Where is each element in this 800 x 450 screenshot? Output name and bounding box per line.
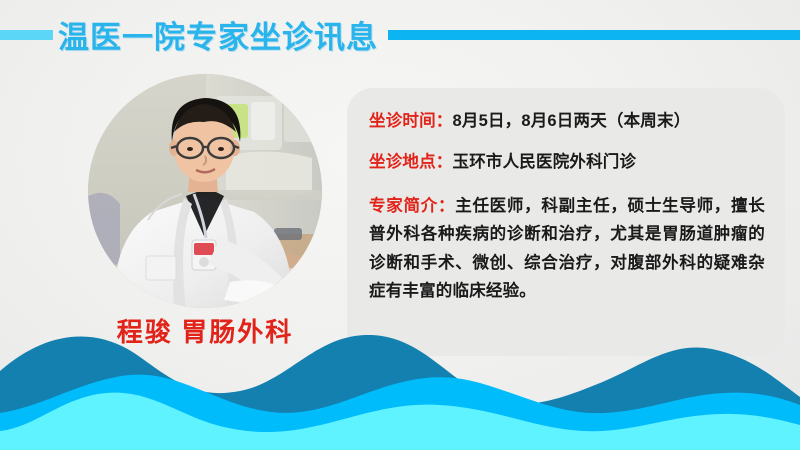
poster-canvas: 温医一院专家坐诊讯息 xyxy=(0,0,800,450)
clinic-place-label: 坐诊地点： xyxy=(369,153,453,171)
doctor-photo xyxy=(88,74,322,308)
doctor-photo-illustration xyxy=(88,74,322,308)
info-panel: 坐诊时间：8月5日，8月6日两天（本周末） 坐诊地点：玉环市人民医院外科门诊 专… xyxy=(347,88,785,356)
expert-bio-line: 专家简介：主任医师，科副主任，硕士生导师，擅长普外科各种疾病的诊断和治疗，尤其是… xyxy=(369,192,765,306)
clinic-time-value: 8月5日，8月6日两天（本周末） xyxy=(453,112,691,130)
wave-illustration xyxy=(0,335,800,450)
header-left-dash xyxy=(0,30,53,40)
header-bar: 温医一院专家坐诊讯息 xyxy=(0,14,800,60)
header-right-rule xyxy=(388,30,800,40)
clinic-place-value: 玉环市人民医院外科门诊 xyxy=(453,153,637,171)
clinic-place-line: 坐诊地点：玉环市人民医院外科门诊 xyxy=(369,151,765,175)
clinic-time-line: 坐诊时间：8月5日，8月6日两天（本周末） xyxy=(369,110,765,134)
clinic-time-label: 坐诊时间： xyxy=(369,112,453,130)
page-title: 温医一院专家坐诊讯息 xyxy=(58,12,378,57)
wave-decoration xyxy=(0,335,800,450)
expert-bio-label: 专家简介： xyxy=(369,197,455,215)
